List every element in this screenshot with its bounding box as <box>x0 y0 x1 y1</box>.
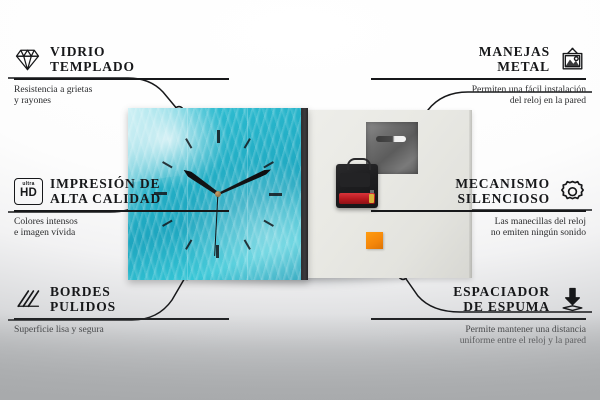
callout-subtitle: Permiten una fácil instalación del reloj… <box>371 84 586 107</box>
callout-rule <box>371 78 586 80</box>
ultra-hd-icon: ultra HD <box>14 178 41 205</box>
callout-bordes-pulidos: BORDES PULIDOS Superficie lisa y segura <box>14 284 229 335</box>
polished-edges-icon <box>14 286 41 313</box>
callout-title: ESPACIADOR DE ESPUMA <box>453 284 550 314</box>
callout-impresion-alta-calidad: ultra HD IMPRESIÓN DE ALTA CALIDAD Color… <box>14 176 229 239</box>
callout-subtitle: Las manecillas del reloj no emiten ningú… <box>371 216 586 239</box>
clock-side-edge <box>301 108 308 280</box>
movement-panel <box>340 173 370 187</box>
callout-title: VIDRIO TEMPLADO <box>50 44 135 74</box>
movement-hanging-loop <box>347 158 371 170</box>
diamond-icon <box>14 46 41 73</box>
ultra-hd-main-label: HD <box>20 188 37 200</box>
callout-subtitle: Superficie lisa y segura <box>14 324 229 336</box>
callout-title: IMPRESIÓN DE ALTA CALIDAD <box>50 176 161 206</box>
callout-subtitle: Permite mantener una distancia uniforme … <box>371 324 586 347</box>
callout-rule <box>14 78 229 80</box>
callout-subtitle: Resistencia a grietas y rayones <box>14 84 229 107</box>
callout-rule <box>371 318 586 320</box>
infographic-canvas: VIDRIO TEMPLADO Resistencia a grietas y … <box>0 0 600 400</box>
callout-title: BORDES PULIDOS <box>50 284 116 314</box>
picture-frame-hanger-icon <box>559 46 586 73</box>
callout-subtitle: Colores intensos e imagen vívida <box>14 216 229 239</box>
callout-rule <box>14 318 229 320</box>
callout-title: MECANISMO SILENCIOSO <box>455 176 550 206</box>
hanger-slot <box>376 136 406 142</box>
gear-icon <box>559 178 586 205</box>
callout-mecanismo-silencioso: MECANISMO SILENCIOSO Las manecillas del … <box>371 176 586 239</box>
callout-rule <box>14 210 229 212</box>
callout-vidrio-templado: VIDRIO TEMPLADO Resistencia a grietas y … <box>14 44 229 107</box>
foam-spacer-arrow-icon <box>559 286 586 313</box>
callout-rule <box>371 210 586 212</box>
callout-title: MANEJAS METAL <box>479 44 550 74</box>
callout-espaciador-espuma: ESPACIADOR DE ESPUMA Permite mantener un… <box>371 284 586 347</box>
callout-manejas-metal: MANEJAS METAL Permiten una fácil instala… <box>371 44 586 107</box>
battery <box>339 193 375 204</box>
